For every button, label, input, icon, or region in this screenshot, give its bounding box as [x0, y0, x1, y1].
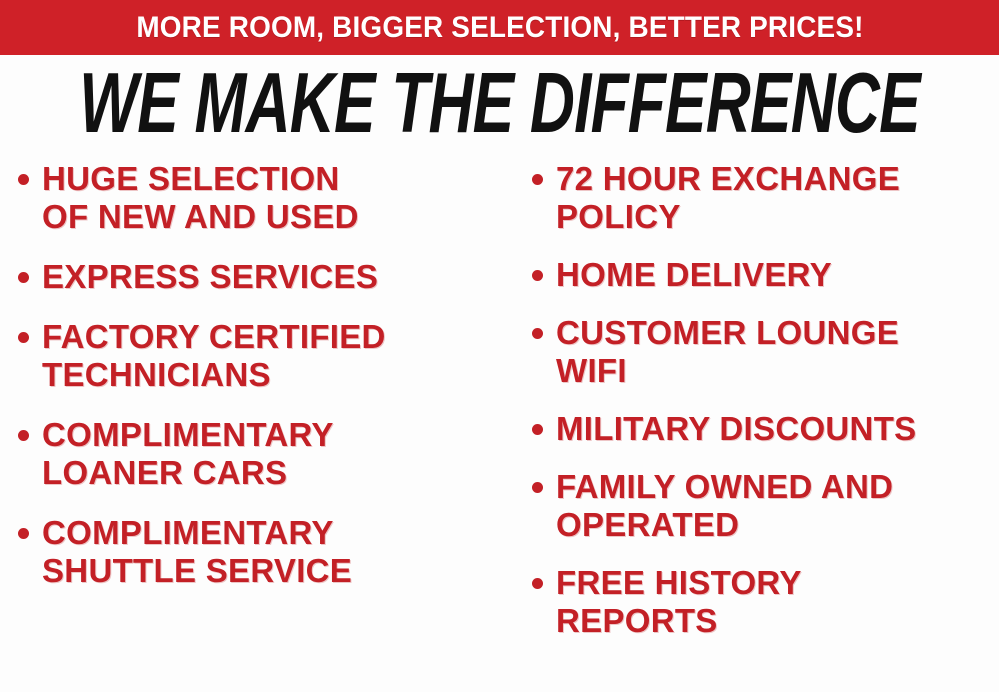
list-item-label: FREE HISTORY REPORTS [556, 564, 802, 640]
list-item-label: MILITARY DISCOUNTS [556, 410, 916, 448]
list-item: CUSTOMER LOUNGE WIFI [532, 314, 999, 390]
promo-poster: MORE ROOM, BIGGER SELECTION, BETTER PRIC… [0, 0, 999, 692]
list-item: COMPLIMENTARY SHUTTLE SERVICE [18, 514, 512, 590]
list-item: FAMILY OWNED AND OPERATED [532, 468, 999, 544]
headline-container: WE MAKE THE DIFFERENCE [0, 60, 999, 148]
list-item-label: HOME DELIVERY [556, 256, 832, 294]
list-item: 72 HOUR EXCHANGE POLICY [532, 160, 999, 236]
benefits-columns: HUGE SELECTION OF NEW AND USED EXPRESS S… [0, 160, 999, 680]
bullet-dot-icon [18, 332, 29, 343]
list-item-label: HUGE SELECTION OF NEW AND USED [42, 160, 359, 236]
page-title: WE MAKE THE DIFFERENCE [79, 61, 920, 146]
bullet-dot-icon [532, 328, 543, 339]
list-item-label: COMPLIMENTARY LOANER CARS [42, 416, 334, 492]
bullet-dot-icon [532, 424, 543, 435]
list-item-label: EXPRESS SERVICES [42, 258, 378, 296]
list-item-label: CUSTOMER LOUNGE WIFI [556, 314, 899, 390]
list-item-label: FAMILY OWNED AND OPERATED [556, 468, 893, 544]
bullet-dot-icon [532, 174, 543, 185]
list-item-label: FACTORY CERTIFIED TECHNICIANS [42, 318, 386, 394]
benefits-column-right: 72 HOUR EXCHANGE POLICY HOME DELIVERY CU… [512, 160, 999, 680]
benefits-column-left: HUGE SELECTION OF NEW AND USED EXPRESS S… [0, 160, 512, 680]
bullet-dot-icon [18, 430, 29, 441]
list-item-label: COMPLIMENTARY SHUTTLE SERVICE [42, 514, 352, 590]
list-item: COMPLIMENTARY LOANER CARS [18, 416, 512, 492]
banner-headline: MORE ROOM, BIGGER SELECTION, BETTER PRIC… [136, 13, 863, 43]
bullet-dot-icon [18, 174, 29, 185]
list-item: HOME DELIVERY [532, 256, 999, 294]
list-item: FREE HISTORY REPORTS [532, 564, 999, 640]
list-item: EXPRESS SERVICES [18, 258, 512, 296]
list-item: MILITARY DISCOUNTS [532, 410, 999, 448]
bullet-dot-icon [18, 528, 29, 539]
bullet-dot-icon [532, 270, 543, 281]
list-item: HUGE SELECTION OF NEW AND USED [18, 160, 512, 236]
list-item: FACTORY CERTIFIED TECHNICIANS [18, 318, 512, 394]
bullet-dot-icon [532, 578, 543, 589]
bullet-dot-icon [18, 272, 29, 283]
list-item-label: 72 HOUR EXCHANGE POLICY [556, 160, 900, 236]
bullet-dot-icon [532, 482, 543, 493]
top-banner: MORE ROOM, BIGGER SELECTION, BETTER PRIC… [0, 0, 999, 55]
